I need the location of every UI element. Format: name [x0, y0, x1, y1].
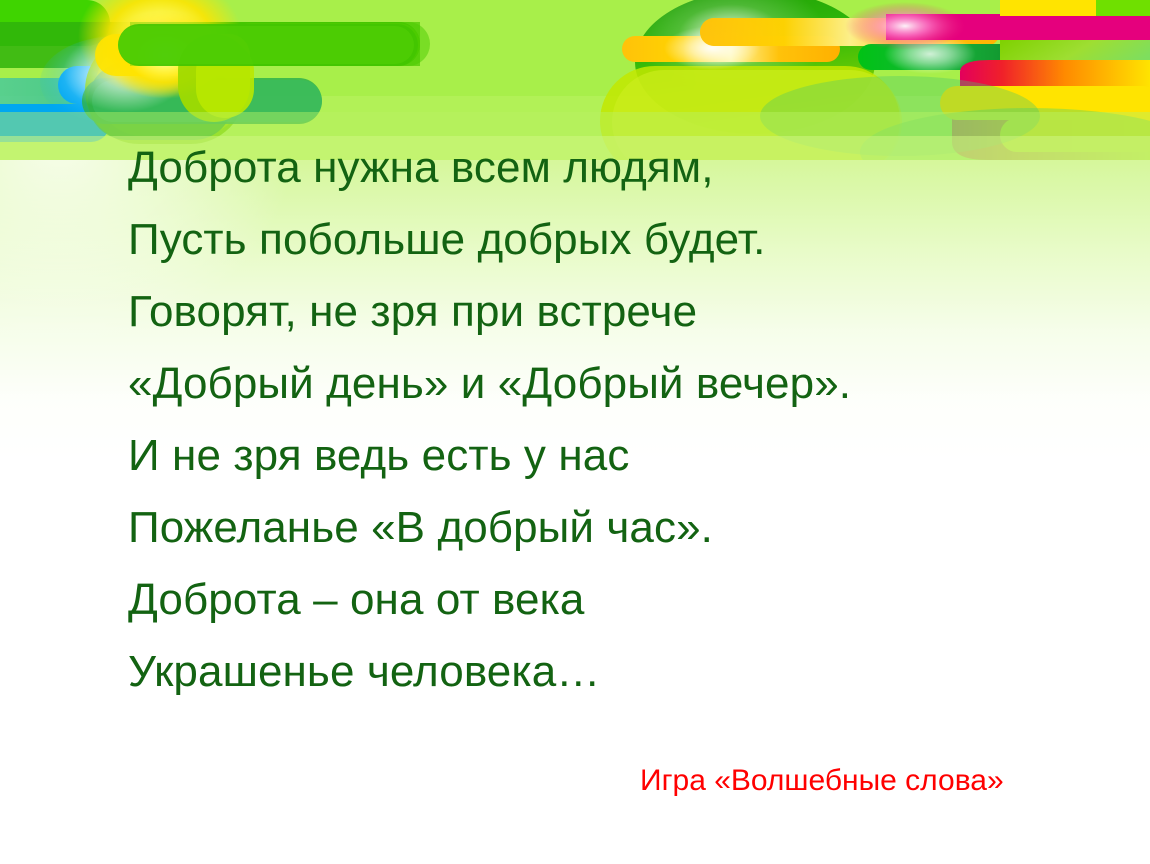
poem-line: Пусть побольше добрых будет. [128, 204, 1078, 276]
poem-line: И не зря ведь есть у нас [128, 420, 1078, 492]
poem-line: Говорят, не зря при встрече [128, 276, 1078, 348]
poem-line: Украшенье человека… [128, 636, 1078, 708]
poem-line: Доброта нужна всем людям, [128, 132, 1078, 204]
game-caption: Игра «Волшебные слова» [640, 762, 1004, 800]
poem-line: «Добрый день» и «Добрый вечер». [128, 348, 1078, 420]
poem-line: Доброта – она от века [128, 564, 1078, 636]
slide: Доброта нужна всем людям, Пусть побольше… [0, 0, 1150, 864]
poem-line: Пожеланье «В добрый час». [128, 492, 1078, 564]
poem-block: Доброта нужна всем людям, Пусть побольше… [128, 132, 1078, 708]
